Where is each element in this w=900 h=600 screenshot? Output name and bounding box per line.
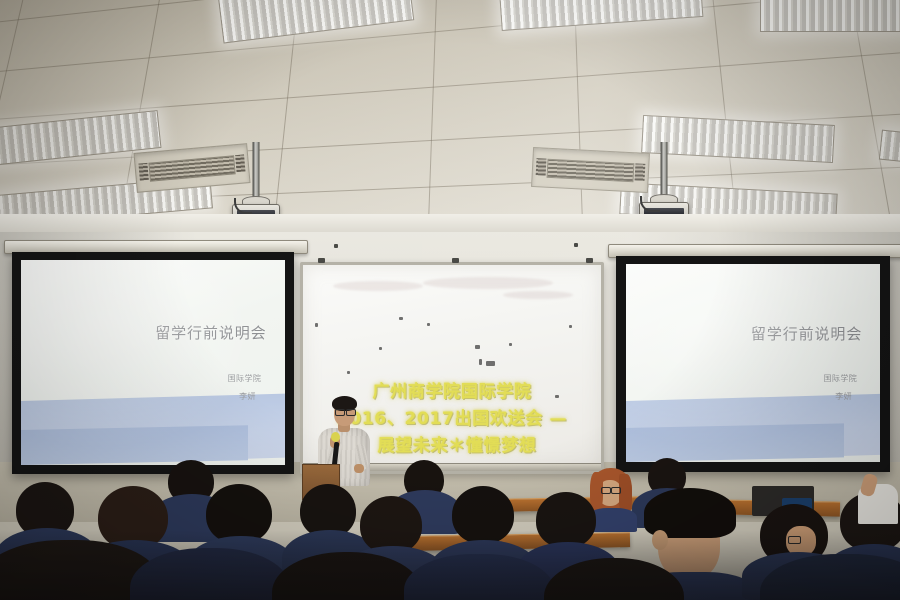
foreground-shadow: [0, 530, 900, 600]
lecture-hall-photo: 留学行前说明会 国际学院 李妍 留学行前说明会 国际学院 李妍: [0, 0, 900, 600]
glasses-icon: [601, 487, 611, 494]
whiteboard-clip: [452, 258, 459, 263]
wall-screw: [334, 244, 338, 248]
whiteboard-clip: [318, 258, 325, 263]
speaker-glasses: [335, 409, 345, 416]
glasses-icon: [611, 487, 621, 494]
audience-member-raised-arm: [852, 474, 900, 526]
wall-screw: [574, 243, 578, 247]
speaker-glasses: [346, 409, 356, 416]
whiteboard-clip: [586, 258, 593, 263]
